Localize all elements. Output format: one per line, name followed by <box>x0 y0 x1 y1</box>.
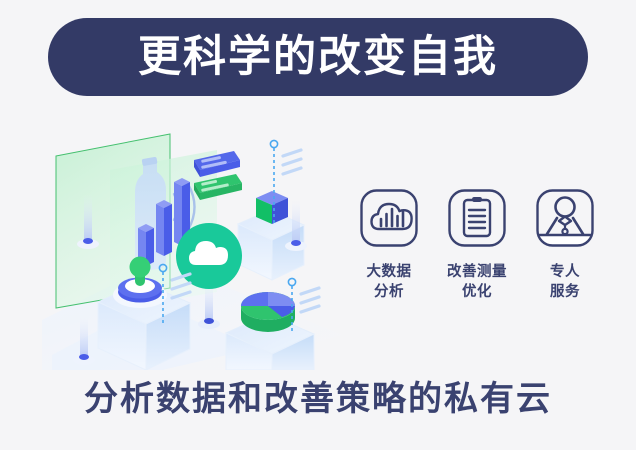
feature-label-line2: 优化 <box>462 284 492 300</box>
promo-banner: 更科学的改变自我 <box>0 0 636 450</box>
header-pill: 更科学的改变自我 <box>48 18 588 96</box>
feature-list: 大数据 分析 改善测量 优化 <box>352 188 602 328</box>
bottom-headline: 分析数据和改善策略的私有云 <box>0 382 636 416</box>
clipboard-icon <box>447 188 507 248</box>
feature-label-measurement: 改善测量 优化 <box>447 262 507 302</box>
pie-chart-3d <box>241 292 295 332</box>
feature-label-line1: 改善测量 <box>447 264 507 280</box>
support-person-icon <box>535 188 595 248</box>
cloud-bar-chart-icon <box>359 188 419 248</box>
feature-label-line1: 专人 <box>550 264 580 280</box>
isometric-data-platform-illustration <box>42 120 342 370</box>
feature-label-line2: 分析 <box>374 284 404 300</box>
cube-green-blue <box>256 191 288 224</box>
feature-label-line2: 服务 <box>550 284 580 300</box>
feature-label-support: 专人 服务 <box>550 262 580 302</box>
feature-label-line1: 大数据 <box>367 264 412 280</box>
feature-item-big-data[interactable]: 大数据 分析 <box>352 188 426 302</box>
feature-label-big-data: 大数据 分析 <box>367 262 412 302</box>
feature-item-support[interactable]: 专人 服务 <box>528 188 602 302</box>
feature-item-measurement[interactable]: 改善测量 优化 <box>440 188 514 302</box>
page-title: 更科学的改变自我 <box>138 36 498 79</box>
